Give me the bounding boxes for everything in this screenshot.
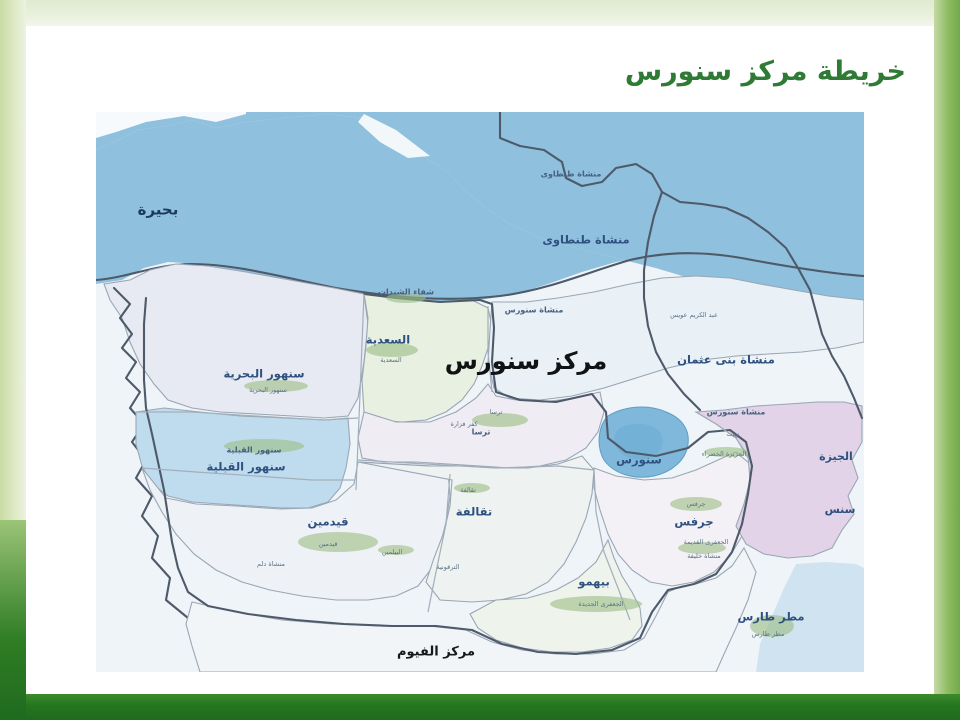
region-label-qaydamin: قيدمين [307,515,348,529]
frame-bottom-border [0,694,960,720]
place-label: منشاة طنطاوى [541,170,602,179]
place-label: الجزيرة الخضراء [702,450,747,458]
place-label: منشاة سنورس [707,408,766,418]
place-label: البيلمين [382,548,403,556]
place-label: نهبت [726,430,739,438]
place-label: منشاة طنطاوى [542,233,629,248]
region-label-taqalifa: تقالفة [456,505,492,519]
place-label: ترسا [490,408,503,416]
region-label-jarfis: جرفس [674,515,713,529]
place-label: سنس [825,503,856,516]
place-label: مطر طارس [752,630,785,638]
place-label: قيدمين [319,540,338,548]
place-label: عبد الكريم عويس [670,311,718,319]
place-label: الترقونية [436,563,459,571]
map-figure: مركز سنورس بحيرة مركز الفيوم سنهور البحر… [96,112,864,672]
veg-patch-qaydamin [298,532,378,552]
place-label: جرفس [687,500,706,508]
place-label: السعدية [380,356,402,364]
region-label-saadiya: السعدية [366,333,410,347]
frame-corner-accent [0,520,26,720]
place-label: الجيزة [819,450,853,463]
place-label: منشاة دلم [257,560,285,568]
place-label: سنهور البحرية [249,386,287,394]
place-label: الجعفرى الجديدة [578,600,623,608]
place-label: الجعفرى القديمة [684,538,729,546]
page-title: خريطة مركز سنورس [625,56,906,87]
map-svg: مركز سنورس بحيرة مركز الفيوم سنهور البحر… [96,112,864,672]
place-label: كفر فزارة [450,420,478,428]
region-label-sinnuris-bahriya: سنهور البحرية [223,367,304,382]
slide-page: خريطة مركز سنورس [26,26,934,694]
slide-canvas: خريطة مركز سنورس [0,0,960,720]
place-label: شفاء الشندات [378,288,434,297]
frame-right-border [934,0,960,720]
place-label: منشاة بنى عثمان [677,353,775,367]
place-label: سنهور القبلية [227,446,282,455]
map-lake-label: بحيرة [138,201,179,219]
place-label: تقالفة [460,486,476,494]
place-label: منشاة سنورس [505,306,564,316]
map-neighbor-south-label: مركز الفيوم [397,645,475,660]
region-label-tirsa: ترسا [472,428,491,437]
map-center-label: مركز سنورس [445,347,607,375]
region-label-sinnuris-qibliya: سنهور القبلية [206,460,285,475]
region-label-sinnuris-city: سنورس [616,453,662,468]
frame-top-border [0,0,960,26]
place-label: مطر طارس [737,610,804,624]
region-sinnuris-qibliya[interactable] [136,408,350,508]
region-label-bayhamu: بيهمو [577,575,610,590]
place-label: منشاة خليفة [687,552,721,560]
